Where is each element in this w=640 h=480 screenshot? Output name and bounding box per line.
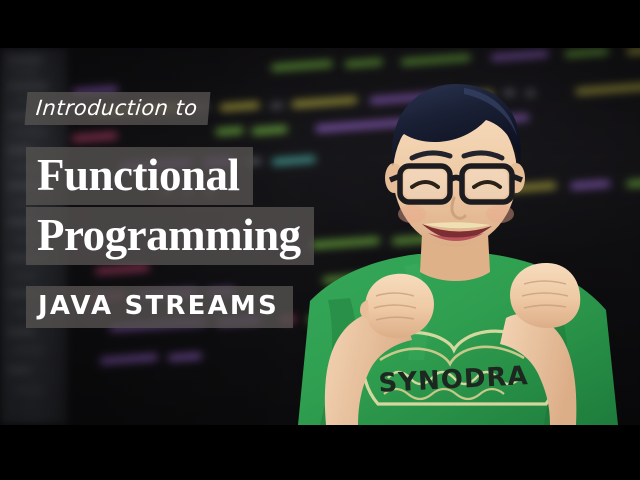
subtitle-line: JAVA STREAMS	[26, 286, 340, 328]
kicker-line: Introduction to	[26, 92, 340, 125]
title-overlay-stack: Introduction to Functional Programming J…	[0, 48, 340, 328]
title-line-1-text: Functional	[26, 147, 253, 205]
letterbox-bar-top	[0, 0, 640, 48]
title-line-2: Programming	[26, 207, 340, 265]
subtitle-text: JAVA STREAMS	[26, 286, 293, 328]
title-line-1: Functional	[26, 147, 340, 205]
letterbox-bar-bottom	[0, 425, 640, 480]
kicker-text: Introduction to	[25, 92, 211, 125]
title-line-2-text: Programming	[26, 207, 314, 265]
main-title: Functional Programming	[26, 147, 340, 265]
video-thumbnail: SYNODRA	[0, 0, 640, 480]
